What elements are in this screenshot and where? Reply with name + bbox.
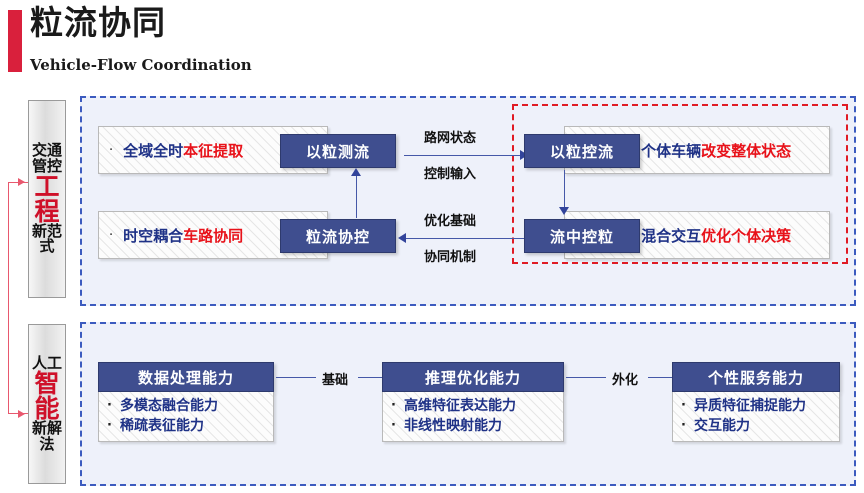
bullet-icon: · — [109, 228, 113, 243]
bullet-icon: · — [391, 397, 396, 416]
bullet-icon: · — [681, 417, 686, 436]
bullet-icon: · — [107, 417, 112, 436]
button-yilikongliu[interactable]: 以粒控流 — [524, 134, 640, 168]
card-item-label: 高维特征表达能力 — [404, 396, 516, 416]
connector-left-up-arrow-icon — [351, 168, 361, 176]
card-item: · 多模态融合能力 — [107, 396, 273, 416]
card-item: · 稀疏表征能力 — [107, 416, 273, 436]
capability-right-2-blue-text: 混合交互 — [641, 225, 701, 246]
bullet-icon: · — [107, 397, 112, 416]
capability-left-2-blue-text: 时空耦合 — [123, 225, 183, 246]
connector-label-control-input: 控制输入 — [424, 163, 476, 182]
capability-card-data-processing: 数据处理能力 · 多模态融合能力 · 稀疏表征能力 — [98, 362, 274, 442]
card-header-personalized-service: 个性服务能力 — [672, 362, 840, 392]
capability-right-1-red-text: 改变整体状态 — [701, 140, 791, 161]
capability-left-2-red-text: 车路协同 — [183, 225, 243, 246]
button-liuliuxiekong[interactable]: 粒流协控 — [280, 219, 396, 253]
sidebar-bracket — [8, 182, 30, 414]
connector-bottom-left-arrow-icon — [398, 233, 406, 243]
sidebar-engineering: 交通 管控 工程 新范 式 — [28, 100, 66, 298]
bottom-connector-label-basis: 基础 — [322, 369, 348, 388]
card-item-label: 交互能力 — [694, 416, 750, 436]
bullet-icon: · — [391, 417, 396, 436]
bracket-arrow-top-icon — [18, 178, 25, 186]
page-subtitle: Vehicle-Flow Coordination — [30, 56, 252, 74]
capability-right-2-red-text: 优化个体决策 — [701, 225, 791, 246]
button-liuzhongkongli[interactable]: 流中控粒 — [524, 219, 640, 253]
connector-label-optimize-basis: 优化基础 — [424, 210, 476, 229]
card-header-data-processing: 数据处理能力 — [98, 362, 274, 392]
card-body-personalized-service: · 异质特征捕捉能力 · 交互能力 — [672, 392, 840, 442]
capability-left-1-blue-text: 全域全时 — [123, 140, 183, 161]
card-item-label: 非线性映射能力 — [404, 416, 502, 436]
sidebar-ai-line-1: 智能 — [29, 371, 65, 421]
card-item-label: 多模态融合能力 — [120, 396, 218, 416]
page-title-block: 粒流协同 Vehicle-Flow Coordination — [0, 8, 520, 78]
card-item-label: 异质特征捕捉能力 — [694, 396, 806, 416]
card-item: · 交互能力 — [681, 416, 839, 436]
connector-label-coordination-mechanism: 协同机制 — [424, 246, 476, 265]
connector-bottom-line — [404, 238, 524, 239]
capability-left-1-red-text: 本征提取 — [183, 140, 243, 161]
sidebar-engineering-line-2: 工程 — [29, 174, 65, 224]
capability-right-1-blue-text: 个体车辆 — [641, 140, 701, 161]
connector-right-vertical — [564, 170, 565, 210]
card-item: · 异质特征捕捉能力 — [681, 396, 839, 416]
bottom-connector-label-externalization: 外化 — [612, 369, 638, 388]
card-header-reasoning-optimization: 推理优化能力 — [382, 362, 564, 392]
connector-left-vertical — [356, 176, 357, 218]
card-body-data-processing: · 多模态融合能力 · 稀疏表征能力 — [98, 392, 274, 442]
sidebar-engineering-line-4: 式 — [39, 239, 54, 254]
card-item: · 高维特征表达能力 — [391, 396, 563, 416]
bullet-icon: · — [109, 143, 113, 158]
bullet-icon: · — [681, 397, 686, 416]
title-accent-bar — [8, 10, 22, 72]
sidebar-ai-line-3: 法 — [39, 437, 54, 452]
capability-card-personalized-service: 个性服务能力 · 异质特征捕捉能力 · 交互能力 — [672, 362, 840, 442]
card-item: · 非线性映射能力 — [391, 416, 563, 436]
bottom-connector-2-line-left — [566, 377, 606, 378]
bracket-arrow-bottom-icon — [18, 410, 25, 418]
connector-right-down-arrow-icon — [559, 207, 569, 215]
button-yilicheliu[interactable]: 以粒测流 — [280, 134, 396, 168]
page-title: 粒流协同 — [30, 4, 166, 42]
card-body-reasoning-optimization: · 高维特征表达能力 · 非线性映射能力 — [382, 392, 564, 442]
card-item-label: 稀疏表征能力 — [120, 416, 204, 436]
bottom-connector-1-line-left — [276, 377, 316, 378]
connector-top-line — [404, 155, 524, 156]
capability-card-reasoning-optimization: 推理优化能力 · 高维特征表达能力 · 非线性映射能力 — [382, 362, 564, 442]
sidebar-ai: 人工 智能 新解 法 — [28, 324, 66, 484]
connector-label-roadnet-state: 路网状态 — [424, 127, 476, 146]
